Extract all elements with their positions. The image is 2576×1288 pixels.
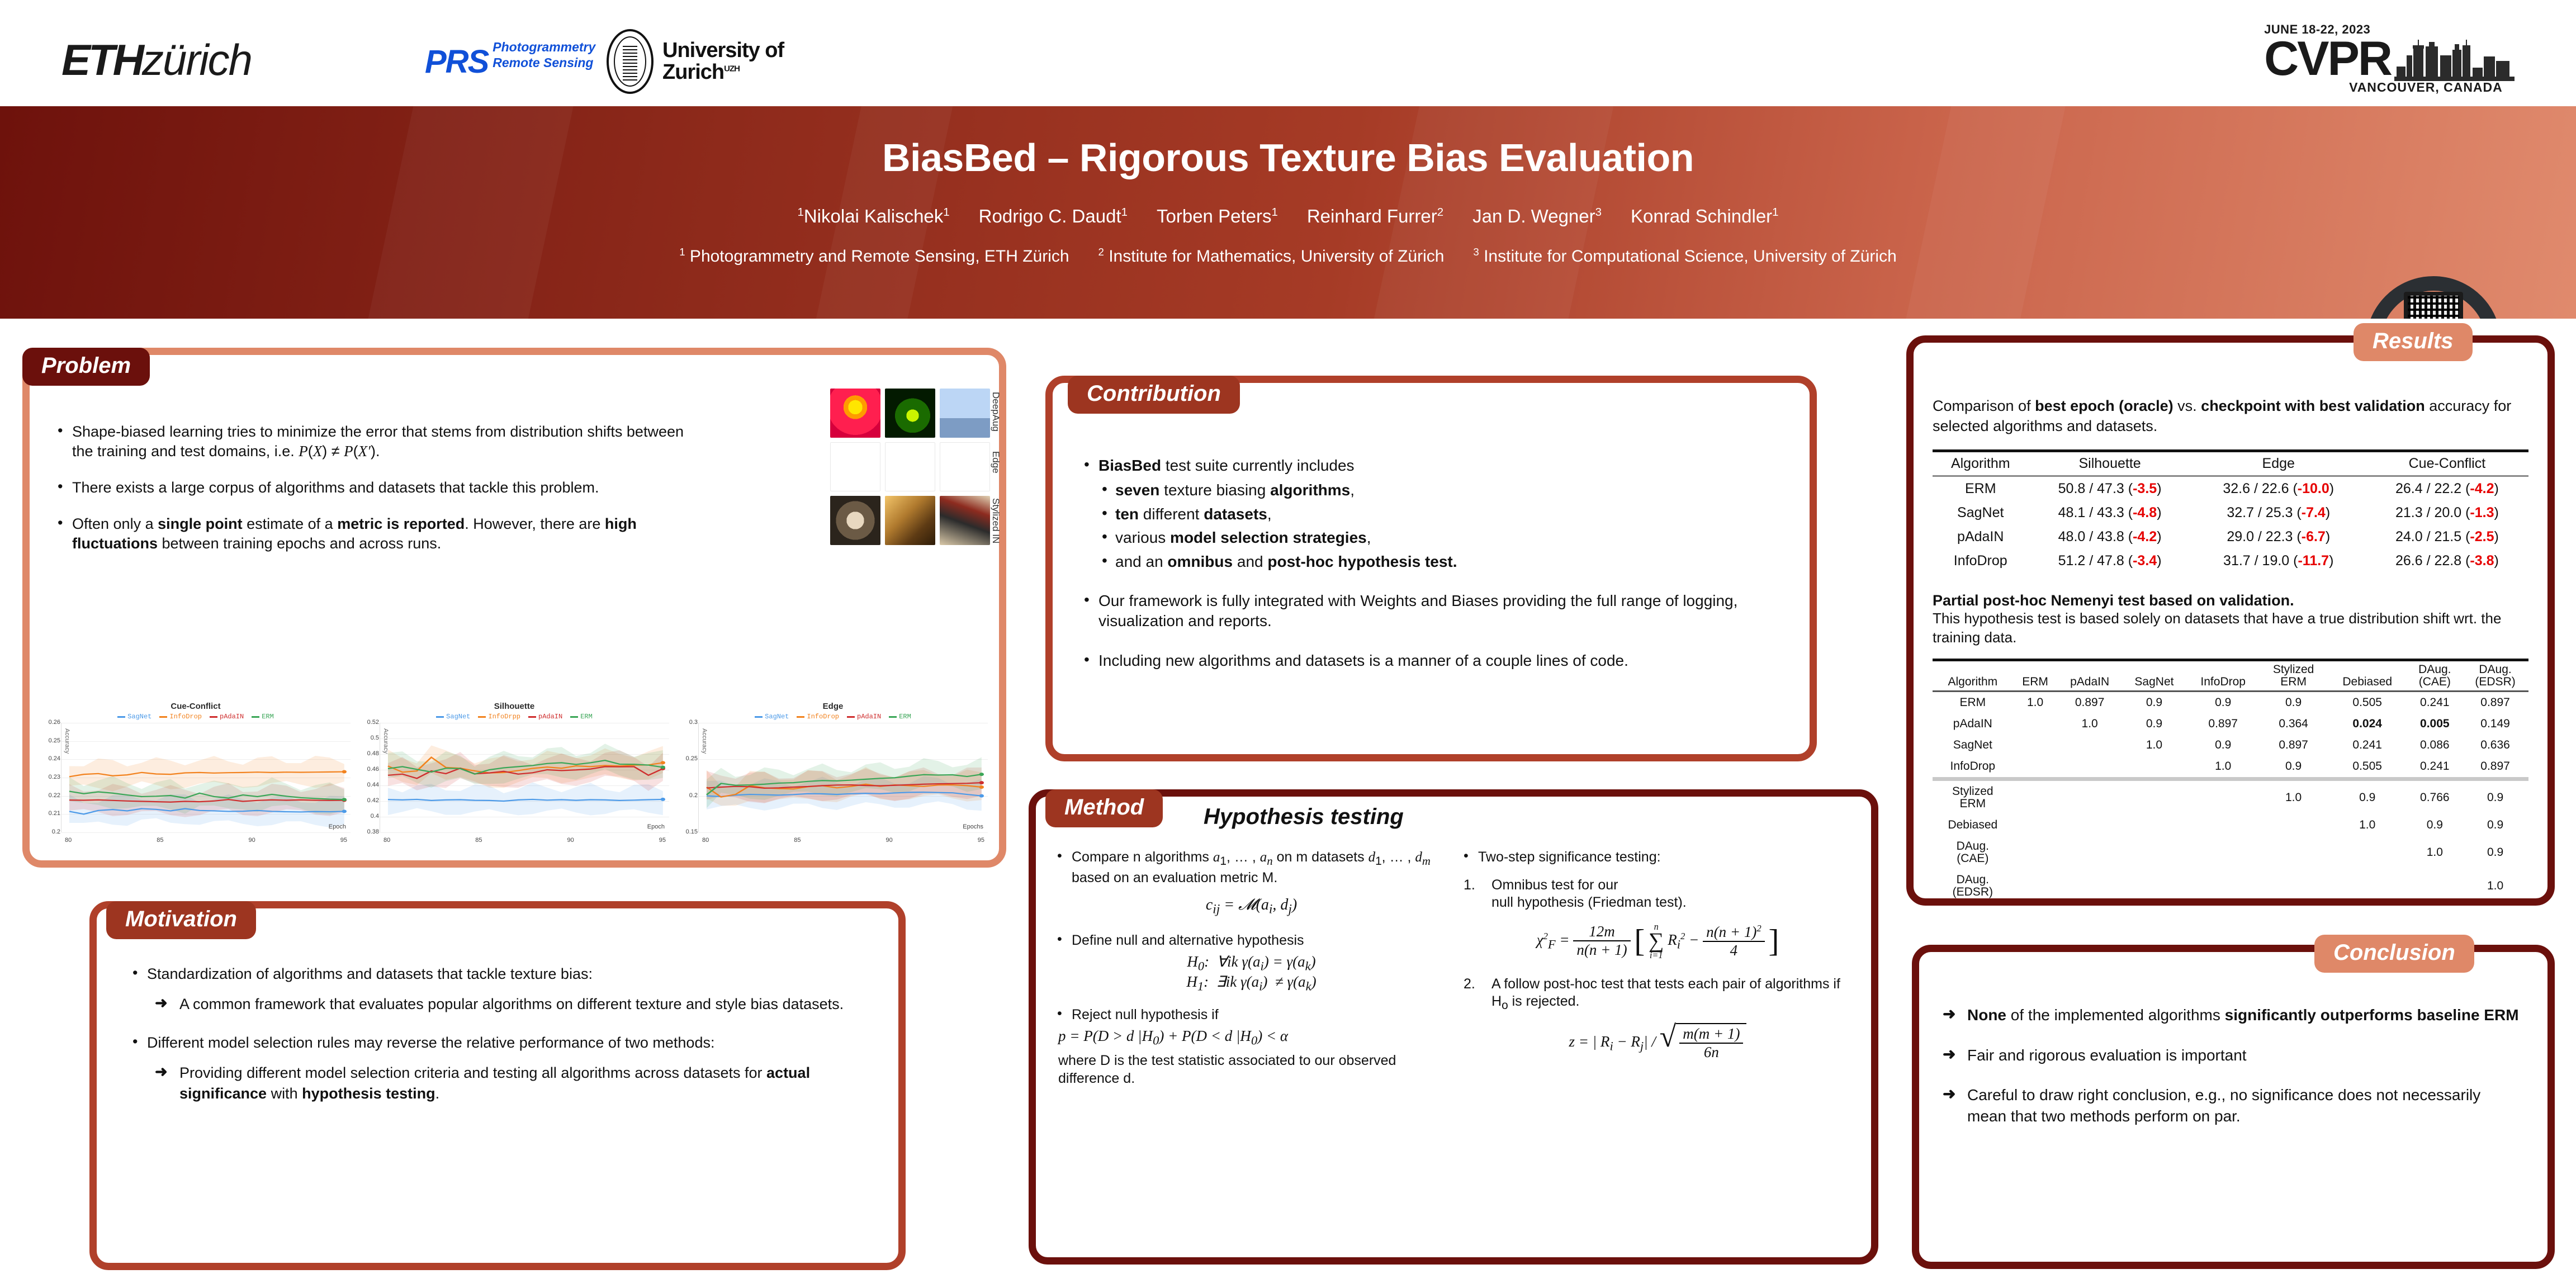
nemenyi-title: Partial post-hoc Nemenyi test based on v…: [1933, 592, 2528, 609]
y-tick: 0.22: [42, 792, 60, 799]
cell: 0.9: [2462, 815, 2528, 836]
author: Reinhard Furrer2: [1307, 206, 1443, 226]
x-axis-ticks: 80859095: [61, 837, 351, 844]
list-item: Often only a single point estimate of a …: [55, 514, 686, 553]
row-label: SagNet: [1933, 735, 2013, 756]
author: Rodrigo C. Daudt1: [979, 206, 1128, 226]
image-stylized-1: [830, 496, 880, 545]
cell-cue-conflict: 26.4 / 22.2 (-4.2): [2366, 476, 2528, 501]
list-item: Shape-biased learning tries to minimize …: [55, 422, 686, 461]
x-axis-ticks: 80859095: [699, 837, 988, 844]
row-label: DAug.(CAE): [1933, 836, 2013, 869]
cell: 0.9: [2186, 735, 2260, 756]
image-stylized-3: [940, 496, 990, 545]
cell-edge: 31.7 / 19.0 (-11.7): [2191, 549, 2366, 573]
github-qr-badge[interactable]: SCAN ME: [2364, 274, 2503, 319]
cell-silhouette: 51.2 / 47.8 (-3.4): [2029, 549, 2191, 573]
list-item: Reject null hypothesis if: [1055, 1006, 1448, 1024]
x-tick: 80: [702, 837, 709, 844]
y-tick: 0.15: [680, 828, 698, 835]
prs-logo: PRS Photogrammetry Remote Sensing: [425, 39, 595, 80]
cell: [2058, 815, 2122, 836]
cell: 0.086: [2408, 735, 2463, 756]
cell: 0.766: [2408, 779, 2463, 815]
image-deepaug-2: [885, 389, 935, 438]
example-image-grid: [830, 389, 990, 545]
y-tick: 0.42: [361, 797, 379, 804]
image-stylized-2: [885, 496, 935, 545]
cell: [2122, 836, 2186, 869]
results-table-oracle-vs-checkpoint: Algorithm Silhouette Edge Cue-Conflict E…: [1933, 449, 2528, 573]
column-header: StylizedERM: [2260, 660, 2327, 691]
contribution-card: BiasBed test suite currently includes se…: [1045, 376, 1817, 761]
x-tick: 90: [249, 837, 255, 844]
cell: [2013, 836, 2058, 869]
cell: [2013, 735, 2058, 756]
cell: [2058, 735, 2122, 756]
cell: 0.9: [2122, 713, 2186, 735]
list-item: Omnibus test for ournull hypothesis (Fri…: [1461, 877, 1854, 912]
x-tick: 85: [794, 837, 801, 844]
y-tick: 0.2: [680, 792, 698, 799]
table-row: pAdaIN48.0 / 43.8 (-4.2)29.0 / 22.3 (-6.…: [1933, 525, 2528, 549]
image-row-label-edge: Edge: [990, 451, 1001, 473]
cvpr-city: VANCOUVER, CANADA: [2349, 80, 2515, 95]
column-header: Edge: [2191, 451, 2366, 476]
prs-line-1: Photogrammetry: [493, 40, 595, 54]
table-row: ERM50.8 / 47.3 (-3.5)32.6 / 22.6 (-10.0)…: [1933, 476, 2528, 501]
arrow-item: A common framework that evaluates popula…: [155, 994, 859, 1014]
legend-item: pAdaIN: [847, 713, 881, 721]
prs-line-2: Remote Sensing: [493, 55, 593, 70]
legend-item: pAdaIN: [210, 713, 244, 721]
column-header: ERM: [2013, 660, 2058, 691]
cell: 1.0: [2327, 815, 2408, 836]
cell: 1.0: [2122, 735, 2186, 756]
row-label: pAdaIN: [1933, 713, 2013, 735]
x-tick: 80: [65, 837, 72, 844]
cell: [2186, 815, 2260, 836]
cell: [2122, 815, 2186, 836]
table-row: InfoDrop1.00.90.5050.2410.897: [1933, 756, 2528, 779]
section-tab-contribution: Contribution: [1068, 376, 1240, 414]
table-row: Debiased1.00.90.9: [1933, 815, 2528, 836]
x-tick: 95: [978, 837, 984, 844]
uzh-wordmark: University of ZurichUZH: [662, 40, 784, 83]
prs-subtitle: Photogrammetry Remote Sensing: [493, 39, 595, 70]
x-tick: 85: [157, 837, 163, 844]
nemenyi-table: AlgorithmERMpAdaINSagNetInfoDropStylized…: [1933, 659, 2528, 903]
section-tab-problem: Problem: [22, 348, 150, 386]
cell: 0.897: [2462, 756, 2528, 779]
row-label: InfoDrop: [1933, 756, 2013, 779]
logo-bar: ETHzürich PRS Photogrammetry Remote Sens…: [0, 0, 2576, 106]
list-item: and an omnibus and post-hoc hypothesis t…: [1098, 552, 1781, 572]
uzh-logo: University of ZurichUZH: [607, 29, 784, 94]
uzh-line-1: University of: [662, 39, 784, 62]
row-label: StylizedERM: [1933, 779, 2013, 815]
chart-legend: SagNetInfoDroppAdaINERM: [41, 713, 351, 721]
legend-item: ERM: [570, 713, 593, 721]
chart-legend: SagNetInfoDrpppAdaINERM: [359, 713, 669, 721]
table-row: ERM1.00.8970.90.90.90.5050.2410.897: [1933, 691, 2528, 713]
results-table-body: ERM50.8 / 47.3 (-3.5)32.6 / 22.6 (-10.0)…: [1933, 476, 2528, 574]
cell: [2260, 815, 2327, 836]
list-item: ten different datasets,: [1098, 504, 1781, 524]
author: Jan D. Wegner3: [1472, 206, 1602, 226]
column-header: DAug.(CAE): [2408, 660, 2463, 691]
title-banner: BiasBed – Rigorous Texture Bias Evaluati…: [0, 106, 2576, 319]
cell: 1.0: [2462, 869, 2528, 903]
image-deepaug-3: [940, 389, 990, 438]
cell: 0.364: [2260, 713, 2327, 735]
page-title: BiasBed – Rigorous Texture Bias Evaluati…: [0, 135, 2576, 180]
list-item: A follow post-hoc test that tests each p…: [1461, 976, 1854, 1013]
method-right-column: Two-step significance testing: Omnibus t…: [1461, 848, 1854, 1087]
y-tick: 0.3: [680, 719, 698, 726]
cell-cue-conflict: 26.6 / 22.8 (-3.8): [2366, 549, 2528, 573]
cell-cue-conflict: 24.0 / 21.5 (-2.5): [2366, 525, 2528, 549]
fluctuation-charts: Cue-ConflictSagNetInfoDroppAdaINERM0.20.…: [41, 702, 988, 853]
column-header: Algorithm: [1933, 451, 2029, 476]
cell: [2122, 756, 2186, 779]
cell: [2186, 779, 2260, 815]
nemenyi-header-row: AlgorithmERMpAdaINSagNetInfoDropStylized…: [1933, 660, 2528, 691]
y-tick: 0.5: [361, 735, 379, 741]
image-edge-3: [940, 442, 990, 491]
nemenyi-table-body: ERM1.00.8970.90.90.90.5050.2410.897pAdaI…: [1933, 691, 2528, 903]
legend-item: pAdaIN: [528, 713, 562, 721]
chart-plot: 0.380.40.420.440.460.480.50.52AccuracyEp…: [380, 723, 669, 832]
y-tick: 0.26: [42, 719, 60, 726]
results-card: Comparison of best epoch (oracle) vs. ch…: [1906, 335, 2555, 906]
affiliation: 3 Institute for Computational Science, U…: [1473, 247, 1896, 266]
cell: 0.9: [2186, 691, 2260, 713]
legend-item: SagNet: [436, 713, 470, 721]
chart-title: Cue-Conflict: [41, 702, 351, 711]
cell: 0.505: [2327, 756, 2408, 779]
arrow-item: None of the implemented algorithms signi…: [1943, 1005, 2524, 1026]
list-item: Standardization of algorithms and datase…: [130, 964, 859, 984]
x-axis-label: Epochs: [963, 823, 983, 830]
cell: 0.024: [2327, 713, 2408, 735]
cell: [2122, 869, 2186, 903]
y-tick: 0.25: [680, 755, 698, 762]
chart-plot: 0.20.210.220.230.240.250.26AccuracyEpoch…: [61, 723, 351, 832]
chart-plot: 0.150.20.250.3AccuracyEpochs80859095: [698, 723, 988, 832]
results-intro: Comparison of best epoch (oracle) vs. ch…: [1933, 396, 2528, 436]
formula-friedman: χ2F = 12mn(n + 1) [ n∑i=1 Ri2 − n(n + 1)…: [1461, 921, 1854, 961]
uzh-line-2: Zurich: [662, 60, 724, 84]
cell: 0.241: [2408, 691, 2463, 713]
cell: [2013, 713, 2058, 735]
x-axis-label: Epoch: [647, 823, 665, 830]
chart-title: Silhouette: [359, 702, 669, 711]
cell: 0.897: [2186, 713, 2260, 735]
list-item: Our framework is fully integrated with W…: [1082, 591, 1781, 632]
section-tab-results: Results: [2354, 323, 2473, 361]
y-tick: 0.4: [361, 813, 379, 820]
cell: 0.897: [2260, 735, 2327, 756]
cell: 0.149: [2462, 713, 2528, 735]
legend-item: SagNet: [117, 713, 151, 721]
list-item: There exists a large corpus of algorithm…: [55, 478, 686, 498]
cell-edge: 29.0 / 22.3 (-6.7): [2191, 525, 2366, 549]
arrow-item: Providing different model selection crit…: [155, 1063, 859, 1103]
cell-edge: 32.6 / 22.6 (-10.0): [2191, 476, 2366, 501]
motivation-items: Standardization of algorithms and datase…: [130, 964, 859, 1104]
y-tick: 0.52: [361, 719, 379, 726]
method-left-column: Compare n algorithms a1, … , an on m dat…: [1055, 848, 1448, 1087]
arrow-item: Careful to draw right conclusion, e.g., …: [1943, 1085, 2524, 1126]
chart-title: Edge: [678, 702, 988, 711]
author: Konrad Schindler1: [1631, 206, 1779, 226]
affiliation: 2 Institute for Mathematics, University …: [1098, 247, 1445, 266]
table-row: DAug.(CAE)1.00.9: [1933, 836, 2528, 869]
legend-item: ERM: [889, 713, 911, 721]
y-tick: 0.23: [42, 774, 60, 780]
cell: 0.9: [2260, 756, 2327, 779]
column-header: Debiased: [2327, 660, 2408, 691]
cell: 0.636: [2462, 735, 2528, 756]
image-row-label-stylized: Stylized IN: [990, 498, 1001, 543]
column-header: Algorithm: [1933, 660, 2013, 691]
x-tick: 80: [383, 837, 390, 844]
cell: [2058, 869, 2122, 903]
image-deepaug-1: [830, 389, 880, 438]
cell: 1.0: [2013, 691, 2058, 713]
conclusion-card: None of the implemented algorithms signi…: [1912, 945, 2555, 1269]
section-tab-motivation: Motivation: [106, 901, 256, 939]
cell: 0.005: [2408, 713, 2463, 735]
cell-algorithm: InfoDrop: [1933, 549, 2029, 573]
cell: [2327, 869, 2408, 903]
cell: 0.9: [2122, 691, 2186, 713]
table-row: DAug.(EDSR)1.0: [1933, 869, 2528, 903]
x-axis-ticks: 80859095: [380, 837, 669, 844]
column-header: InfoDrop: [2186, 660, 2260, 691]
list-item: various model selection strategies,: [1098, 528, 1781, 548]
cvpr-wordmark: CVPR: [2264, 37, 2391, 81]
x-tick: 95: [659, 837, 666, 844]
affiliation-list: 1 Photogrammetry and Remote Sensing, ETH…: [0, 246, 2576, 266]
legend-item: InfoDrpp: [478, 713, 520, 721]
cell: 0.241: [2408, 756, 2463, 779]
cell: 0.9: [2260, 691, 2327, 713]
y-tick: 0.21: [42, 810, 60, 817]
contribution-sub-list: seven texture biasing algorithms, ten di…: [1098, 480, 1781, 572]
y-tick: 0.2: [42, 828, 60, 835]
image-edge-2: [885, 442, 935, 491]
section-tab-conclusion: Conclusion: [2314, 935, 2474, 973]
cell-algorithm: pAdaIN: [1933, 525, 2029, 549]
cvpr-logo: JUNE 18-22, 2023 CVPR VANCOUVER, CANADA: [2264, 22, 2515, 95]
eth-logo-bold: ETH: [61, 35, 142, 84]
chart-cue-conflict: Cue-ConflictSagNetInfoDroppAdaINERM0.20.…: [41, 702, 351, 853]
vancouver-skyline-icon: [2394, 40, 2515, 81]
cell-silhouette: 48.0 / 43.8 (-4.2): [2029, 525, 2191, 549]
cell-silhouette: 50.8 / 47.3 (-3.5): [2029, 476, 2191, 501]
y-tick: 0.24: [42, 755, 60, 762]
legend-item: SagNet: [755, 713, 789, 721]
formula-pvalue: p = P(D > d |H0) + P(D < d |H0) < α: [1055, 1027, 1448, 1048]
prs-abbrev: PRS: [425, 44, 488, 80]
cell: 0.9: [2462, 779, 2528, 815]
cell: [2186, 869, 2260, 903]
cell: [2013, 756, 2058, 779]
cell: [2058, 836, 2122, 869]
table-row: SagNet1.00.90.8970.2410.0860.636: [1933, 735, 2528, 756]
cell-algorithm: ERM: [1933, 476, 2029, 501]
cell: 0.9: [2462, 836, 2528, 869]
nemenyi-subtitle: This hypothesis test is based solely on …: [1933, 609, 2528, 647]
cell: 0.897: [2058, 691, 2122, 713]
cell: [2058, 779, 2122, 815]
row-label: ERM: [1933, 691, 2013, 713]
eth-zurich-logo: ETHzürich: [61, 35, 252, 86]
y-tick: 0.48: [361, 750, 379, 757]
cell: [2013, 815, 2058, 836]
x-tick: 85: [475, 837, 482, 844]
method-note: where D is the test statistic associated…: [1055, 1052, 1448, 1087]
cell: 1.0: [2186, 756, 2260, 779]
formula-nemenyi-z: z = | Ri − Rj| / √m(m + 1)6n: [1461, 1023, 1854, 1061]
motivation-card: Standardization of algorithms and datase…: [89, 901, 906, 1270]
qr-code-icon[interactable]: [2404, 292, 2463, 319]
arrow-item: Fair and rigorous evaluation is importan…: [1943, 1045, 2524, 1066]
table-row: pAdaIN1.00.90.8970.3640.0240.0050.149: [1933, 713, 2528, 735]
section-tab-method: Method: [1045, 789, 1163, 827]
author: 1Nikolai Kalischek1: [797, 206, 949, 226]
list-item: Different model selection rules may reve…: [130, 1033, 859, 1053]
list-item: Two-step significance testing:: [1461, 848, 1854, 866]
table-row: SagNet48.1 / 43.3 (-4.8)32.7 / 25.3 (-7.…: [1933, 501, 2528, 525]
cell: [2408, 869, 2463, 903]
cell-silhouette: 48.1 / 43.3 (-4.8): [2029, 501, 2191, 525]
author: Torben Peters1: [1157, 206, 1278, 226]
x-tick: 95: [340, 837, 347, 844]
cell-algorithm: SagNet: [1933, 501, 2029, 525]
cell: 0.9: [2408, 815, 2463, 836]
cell: 1.0: [2058, 713, 2122, 735]
cell: 0.241: [2327, 735, 2408, 756]
legend-item: ERM: [252, 713, 274, 721]
cell-cue-conflict: 21.3 / 20.0 (-1.3): [2366, 501, 2528, 525]
cell: 0.9: [2327, 779, 2408, 815]
y-tick: 0.46: [361, 766, 379, 773]
y-tick: 0.25: [42, 737, 60, 744]
row-label: Debiased: [1933, 815, 2013, 836]
formula-metric: cij = 𝓜(ai, dj): [1055, 896, 1448, 917]
table-row: InfoDrop51.2 / 47.8 (-3.4)31.7 / 19.0 (-…: [1933, 549, 2528, 573]
list-item: Compare n algorithms a1, … , an on m dat…: [1055, 848, 1448, 887]
x-tick: 90: [886, 837, 893, 844]
column-header: pAdaIN: [2058, 660, 2122, 691]
column-header: Cue-Conflict: [2366, 451, 2528, 476]
cell: [2122, 779, 2186, 815]
contribution-bullets: BiasBed test suite currently includes se…: [1082, 456, 1781, 671]
legend-item: InfoDrop: [797, 713, 839, 721]
cell-edge: 32.7 / 25.3 (-7.4): [2191, 501, 2366, 525]
cell: [2058, 756, 2122, 779]
method-heading: Hypothesis testing: [1204, 804, 1404, 830]
row-label: DAug.(EDSR): [1933, 869, 2013, 903]
list-item: BiasBed test suite currently includes se…: [1082, 456, 1781, 572]
formula-hypotheses: H0: ∀ik γ(ai) = γ(ak) H1: ∃ik γ(ai) ≠ γ(…: [1055, 953, 1448, 994]
chart-legend: SagNetInfoDroppAdaINERM: [678, 713, 988, 721]
eth-logo-light: zürich: [142, 35, 252, 84]
list-item: seven texture biasing algorithms,: [1098, 480, 1781, 500]
cell: [2260, 869, 2327, 903]
x-tick: 90: [567, 837, 574, 844]
cell: 0.505: [2327, 691, 2408, 713]
column-header: SagNet: [2122, 660, 2186, 691]
y-tick: 0.44: [361, 782, 379, 788]
cell: [2327, 836, 2408, 869]
chart-edge: EdgeSagNetInfoDroppAdaINERM0.150.20.250.…: [678, 702, 988, 853]
chart-silhouette: SilhouetteSagNetInfoDrpppAdaINERM0.380.4…: [359, 702, 669, 853]
cell: 0.897: [2462, 691, 2528, 713]
cell: [2186, 836, 2260, 869]
x-axis-label: Epoch: [329, 823, 346, 830]
list-item: Including new algorithms and datasets is…: [1082, 651, 1781, 671]
problem-card: Shape-biased learning tries to minimize …: [22, 348, 1006, 868]
table-row: StylizedERM1.00.90.7660.9: [1933, 779, 2528, 815]
list-item: Define null and alternative hypothesis: [1055, 931, 1448, 950]
uzh-sup: UZH: [724, 64, 740, 73]
uzh-seal-icon: [607, 29, 654, 94]
affiliation: 1 Photogrammetry and Remote Sensing, ETH…: [679, 247, 1069, 266]
cell: 1.0: [2260, 779, 2327, 815]
image-row-label-deepaug: DeepAug: [990, 392, 1001, 432]
column-header: DAug.(EDSR): [2462, 660, 2528, 691]
y-tick: 0.38: [361, 828, 379, 835]
author-list: 1Nikolai Kalischek1Rodrigo C. Daudt1Torb…: [0, 206, 2576, 227]
problem-bullets: Shape-biased learning tries to minimize …: [55, 422, 686, 553]
cell: [2013, 869, 2058, 903]
cell: [2013, 779, 2058, 815]
cell: [2260, 836, 2327, 869]
cell: 1.0: [2408, 836, 2463, 869]
column-header: Silhouette: [2029, 451, 2191, 476]
image-edge-1: [830, 442, 880, 491]
legend-item: InfoDrop: [159, 713, 202, 721]
method-card: Hypothesis testing Compare n algorithms …: [1029, 789, 1878, 1265]
